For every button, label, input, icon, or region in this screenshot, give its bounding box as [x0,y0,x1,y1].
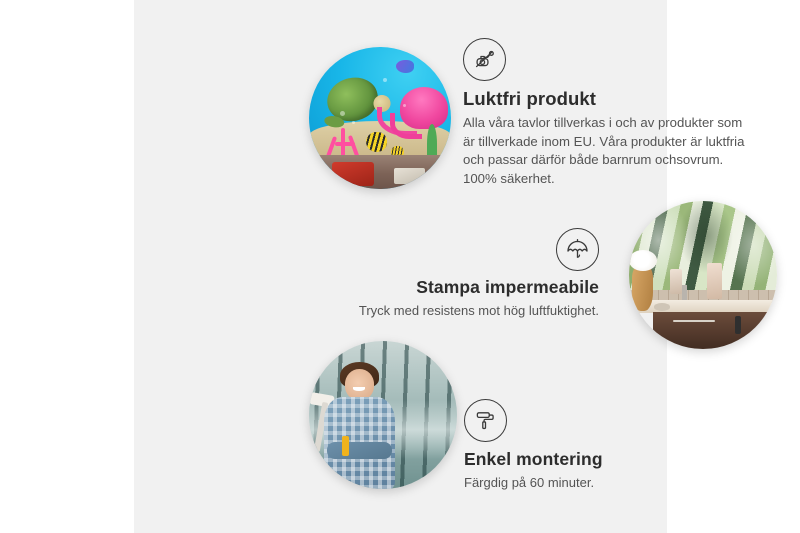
image-ocean-kids-mural[interactable] [309,47,451,189]
image-bathroom-tropical-wallpaper[interactable] [629,201,777,349]
gold-vase [632,266,653,310]
umbrella-icon [556,228,599,271]
yellow-hand-tool [342,436,349,457]
soap-bottle-right [707,263,722,299]
feature-easy-assembly: Enkel montering Färgdig på 60 minuter. [464,399,714,492]
feature-title: Luktfri produkt [463,88,753,110]
no-spray-bottle-icon [463,38,506,81]
yellow-striped-fish [366,132,387,152]
feature-title: Stampa impermeabile [349,277,599,298]
screenshot-canvas: Luktfri produkt Alla våra tavlor tillver… [0,0,800,533]
soap-dish [654,303,670,310]
white-flowers [629,250,657,271]
water-bubble [403,104,406,107]
content-panel: Luktfri produkt Alla våra tavlor tillver… [134,0,667,533]
feature-description: Färgdig på 60 minuter. [464,474,714,492]
ocean-scene-artwork [309,47,451,189]
bathroom-photo [629,201,777,349]
forest-photo [309,341,457,489]
feature-description: Tryck med resistens mot hög luftfuktighe… [349,302,599,320]
room-interior-foreground [309,155,451,189]
water-bubble [352,121,355,124]
woman-face [345,369,375,400]
pink-octopus [400,87,448,130]
blue-fish [396,60,414,73]
soap-bottle-left [670,269,682,294]
feature-description: Alla våra tavlor tillverkas i och av pro… [463,114,753,189]
image-woman-painter-forest[interactable] [309,341,457,489]
feature-title: Enkel montering [464,449,714,470]
paint-roller-icon [464,399,507,442]
feature-odour-free: Luktfri produkt Alla våra tavlor tillver… [463,38,753,189]
feature-waterproof: Stampa impermeabile Tryck med resistens … [349,228,599,320]
woman-folded-arms [327,442,392,460]
wooden-vanity-cabinet [653,312,777,349]
